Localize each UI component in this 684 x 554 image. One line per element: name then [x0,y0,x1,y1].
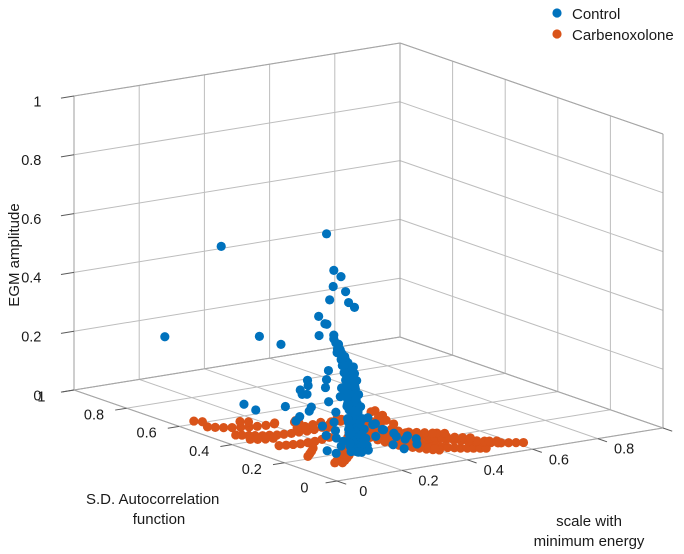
data-point [389,440,398,449]
z-axis-title-group: EGM amplitude [6,203,23,306]
data-point [351,394,360,403]
data-point [329,418,338,427]
data-point [341,287,350,296]
x-tick-label-4: 0.8 [614,442,634,458]
y-tick-label-4: 0.8 [84,408,104,424]
data-point [235,417,244,426]
data-point [492,436,501,445]
data-point [329,266,338,275]
data-point [321,383,330,392]
data-point [323,446,332,455]
data-point [219,423,228,432]
data-point [274,441,283,450]
data-point [353,406,362,415]
data-point [430,444,439,453]
z-tick-label-4: 0.8 [21,153,41,169]
x-tick-label-0: 0 [359,484,367,500]
data-point [400,444,409,453]
data-point [322,320,331,329]
data-point [332,449,341,458]
data-point [329,282,338,291]
data-point [357,430,366,439]
data-point [315,331,324,340]
data-point [350,369,359,378]
data-point [308,420,317,429]
data-point [440,429,449,438]
data-point [350,303,359,312]
data-point [466,433,475,442]
y-axis-title-line2: function [133,511,186,528]
data-point [340,368,349,377]
data-point [253,422,262,431]
data-point [403,431,412,440]
data-point [412,434,421,443]
y-tick-label-2: 0.4 [189,444,209,460]
data-point [363,413,372,422]
z-axis-title: EGM amplitude [6,203,23,306]
data-point [318,421,327,430]
data-point [332,433,341,442]
data-point [389,429,398,438]
legend-marker-control [552,8,561,17]
z-tick-label-3: 0.6 [21,212,41,228]
z-tick-label-2: 0.4 [21,271,41,287]
data-point [269,434,278,443]
x-tick-label-2: 0.4 [484,463,504,479]
data-point [303,376,312,385]
data-point [337,383,346,392]
data-point [519,438,528,447]
data-point [347,447,356,456]
data-point [360,438,369,447]
data-point [239,400,248,409]
y-tick-label-3: 0.6 [137,426,157,442]
data-point [420,428,429,437]
data-point [371,419,380,428]
data-point [322,431,331,440]
data-point [450,433,459,442]
data-point [303,452,312,461]
legend: Control Carbenoxolone [552,6,673,44]
data-point [255,332,264,341]
data-point [261,421,270,430]
y-axis-title-group: S.D. Autocorrelation function [86,491,219,528]
x-axis-title-line2: minimum energy [534,533,645,550]
data-point [198,417,207,426]
data-point [338,458,347,467]
x-tick-label-1: 0.2 [418,474,438,490]
x-axis-title-line1: scale with [556,513,622,530]
y-axis-title-line1: S.D. Autocorrelation [86,491,219,508]
data-point [227,423,236,432]
data-point [276,340,285,349]
legend-label-control: Control [572,6,620,23]
data-point [345,429,354,438]
data-point [322,229,331,238]
data-point [314,312,323,321]
data-point [350,382,359,391]
x-axis-title-group: scale with minimum energy [534,513,645,550]
y-tick-label-0: 0 [300,480,308,496]
data-point [324,366,333,375]
data-point [270,418,279,427]
data-point [244,417,253,426]
legend-marker-carbenoxolone [552,29,561,38]
data-point [322,375,331,384]
data-point [324,397,333,406]
data-point [298,390,307,399]
data-point [336,272,345,281]
data-point [428,429,437,438]
data-point [281,402,290,411]
data-point [336,392,345,401]
data-point [379,425,388,434]
data-point [331,408,340,417]
data-point [356,418,365,427]
legend-label-carbenoxolone: Carbenoxolone [572,27,674,44]
data-point [371,432,380,441]
data-point [389,419,398,428]
data-point [251,405,260,414]
data-point [189,416,198,425]
z-tick-label-0: 0 [33,388,41,404]
data-point [305,407,314,416]
y-tick-label-1: 0.2 [242,462,262,478]
data-point [160,332,169,341]
data-point [217,242,226,251]
z-tick-label-1: 0.2 [21,330,41,346]
x-tick-label-3: 0.6 [549,452,569,468]
z-tick-label-5: 1 [33,94,41,110]
data-point [344,418,353,427]
data-point [343,399,352,408]
data-point [295,412,304,421]
scatter3d-figure: 00.20.40.60.8100.20.40.60.8100.20.40.60.… [0,0,684,554]
data-point [246,435,255,444]
data-point [300,422,309,431]
data-point [325,295,334,304]
